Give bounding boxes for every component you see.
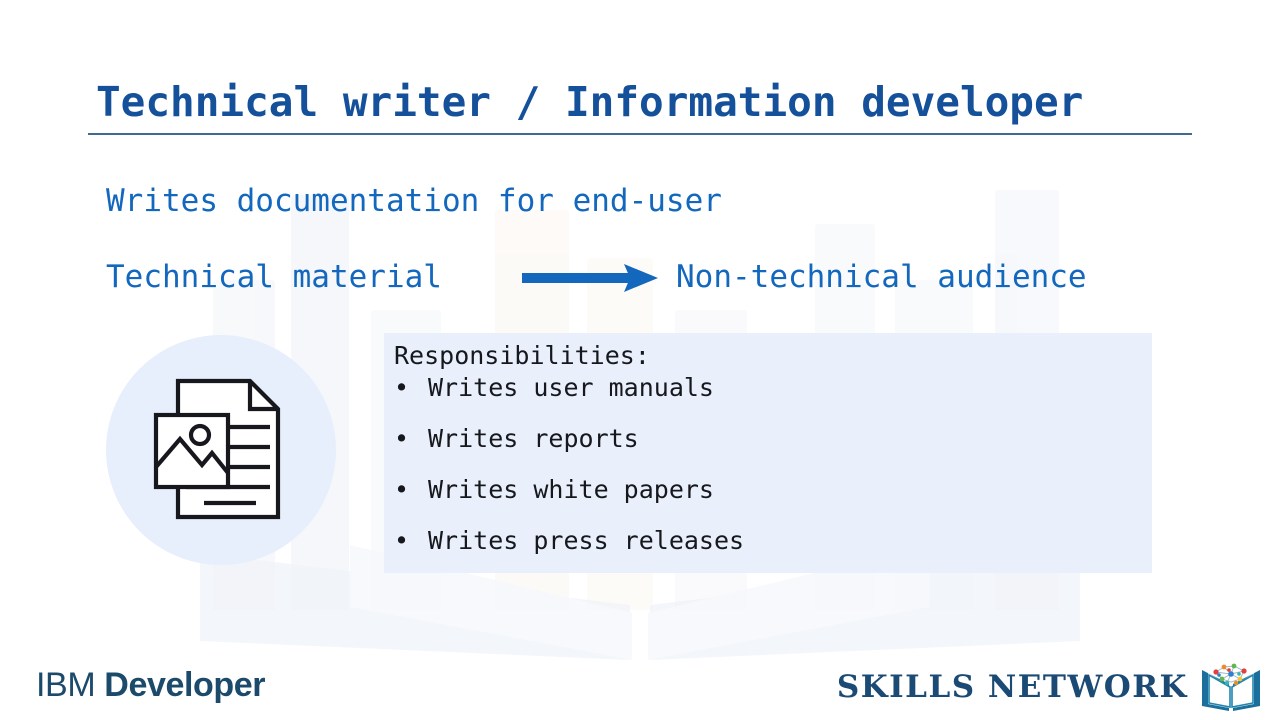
- list-item: • Writes press releases: [394, 528, 1134, 579]
- bullet-glyph: •: [394, 528, 428, 553]
- skills-network-logo: SKILLS NETWORK: [837, 662, 1262, 712]
- flow-target-label: Non-technical audience: [676, 259, 1087, 295]
- open-book-network-icon: [1200, 662, 1262, 712]
- list-item-label: Writes reports: [428, 426, 639, 451]
- responsibilities-heading: Responsibilities:: [394, 341, 650, 370]
- title-divider: [88, 133, 1192, 135]
- ibm-wordmark: IBM: [36, 666, 95, 704]
- list-item-label: Writes press releases: [428, 528, 744, 553]
- document-with-image-icon: [152, 375, 300, 523]
- list-item-label: Writes white papers: [428, 477, 714, 502]
- ibm-developer-logo: IBM Developer: [36, 666, 265, 705]
- page-title: Technical writer / Information developer: [96, 78, 1083, 126]
- bullet-glyph: •: [394, 375, 428, 400]
- list-item: • Writes reports: [394, 426, 1134, 477]
- slide-root: Technical writer / Information developer…: [0, 0, 1280, 720]
- flow-source-label: Technical material: [106, 259, 442, 295]
- intro-line: Writes documentation for end-user: [106, 183, 722, 219]
- developer-wordmark: Developer: [104, 666, 265, 704]
- skills-network-wordmark: SKILLS NETWORK: [837, 669, 1188, 705]
- right-arrow-icon: [520, 262, 662, 294]
- bullet-glyph: •: [394, 426, 428, 451]
- list-item: • Writes user manuals: [394, 375, 1134, 426]
- list-item: • Writes white papers: [394, 477, 1134, 528]
- responsibilities-list: • Writes user manuals • Writes reports •…: [394, 375, 1134, 579]
- bullet-glyph: •: [394, 477, 428, 502]
- list-item-label: Writes user manuals: [428, 375, 714, 400]
